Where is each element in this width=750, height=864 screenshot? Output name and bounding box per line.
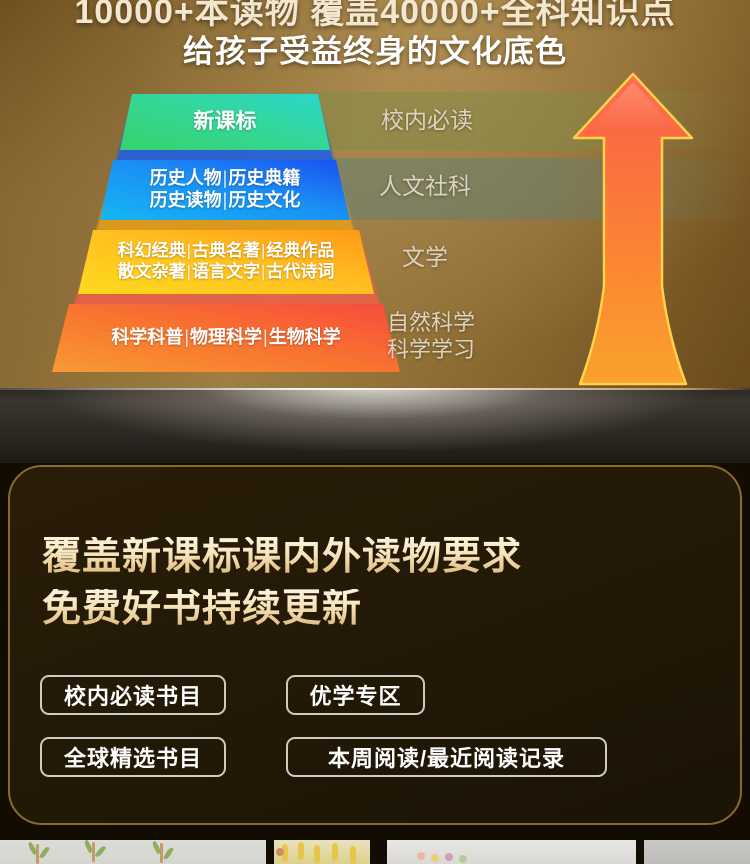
tier-label-line: 科幻经典|古典名著|经典作品: [118, 241, 335, 262]
tier-label-line: 历史人物|历史典籍: [150, 168, 301, 190]
tier-label: 新课标: [194, 109, 257, 135]
tier-label-line: 散文杂著|语言文字|古代诗词: [118, 262, 335, 283]
up-arrow-icon: [558, 68, 708, 388]
tier-label-line: 历史读物|历史文化: [150, 190, 301, 212]
hero-headline-sub: 给孩子受益终身的文化底色: [0, 26, 750, 71]
btn-premium-zone[interactable]: 优学专区: [286, 675, 425, 715]
tier-caption-line: 科学学习: [336, 337, 526, 364]
divider-glow: [0, 388, 750, 450]
book-cover-plants[interactable]: [0, 840, 266, 864]
pyramid-tier-literature[interactable]: 科幻经典|古典名著|经典作品 散文杂著|语言文字|古代诗词: [78, 230, 374, 294]
section-divider: [0, 388, 750, 463]
tier-caption-literature: 文学: [330, 243, 520, 271]
tier-caption-line: 文学: [330, 243, 520, 271]
hero-section: 10000+本读物 覆盖40000+全科知识点 给孩子受益终身的文化底色 新课标: [0, 0, 750, 388]
tier-caption-school-required: 校内必读: [332, 106, 522, 134]
tier-label-line: 新课标: [194, 109, 257, 135]
book-cover-white[interactable]: [387, 840, 636, 864]
tier-caption-line: 人文社科: [330, 172, 520, 200]
pyramid-tier-humanities[interactable]: 历史人物|历史典籍 历史读物|历史文化: [100, 160, 350, 220]
feature-section: 覆盖新课标课内外读物要求 免费好书持续更新 校内必读书目 优学专区 全球精选书目…: [0, 463, 750, 864]
divider-line: [0, 388, 750, 390]
tier-label-line: 科学科普|物理科学|生物科学: [111, 327, 340, 349]
cover-gap: [378, 840, 379, 864]
card-title-line-1: 覆盖新课标课内外读物要求: [42, 537, 522, 576]
btn-school-required[interactable]: 校内必读书目: [40, 675, 226, 715]
btn-reading-records[interactable]: 本周阅读/最近阅读记录: [286, 737, 607, 777]
card-title-line-2: 免费好书持续更新: [42, 589, 362, 628]
tier-caption-science: 自然科学 科学学习: [336, 310, 526, 364]
feature-card: 覆盖新课标课内外读物要求 免费好书持续更新 校内必读书目 优学专区 全球精选书目…: [8, 465, 742, 825]
book-cover-strip: [0, 840, 750, 864]
tier-caption-line: 校内必读: [332, 106, 522, 134]
btn-global-selection[interactable]: 全球精选书目: [40, 737, 226, 777]
tier-label: 科学科普|物理科学|生物科学: [111, 327, 340, 349]
tier-caption-line: 自然科学: [336, 310, 526, 337]
promo-page: 10000+本读物 覆盖40000+全科知识点 给孩子受益终身的文化底色 新课标: [0, 0, 750, 864]
tier-caption-humanities: 人文社科: [330, 172, 520, 200]
pyramid-tier-new-curriculum[interactable]: 新课标: [120, 94, 330, 150]
tier-label: 科幻经典|古典名著|经典作品 散文杂著|语言文字|古代诗词: [118, 241, 335, 282]
book-cover-grey[interactable]: [644, 840, 750, 864]
book-cover-wheat[interactable]: [274, 840, 370, 864]
tier-label: 历史人物|历史典籍 历史读物|历史文化: [150, 168, 301, 212]
